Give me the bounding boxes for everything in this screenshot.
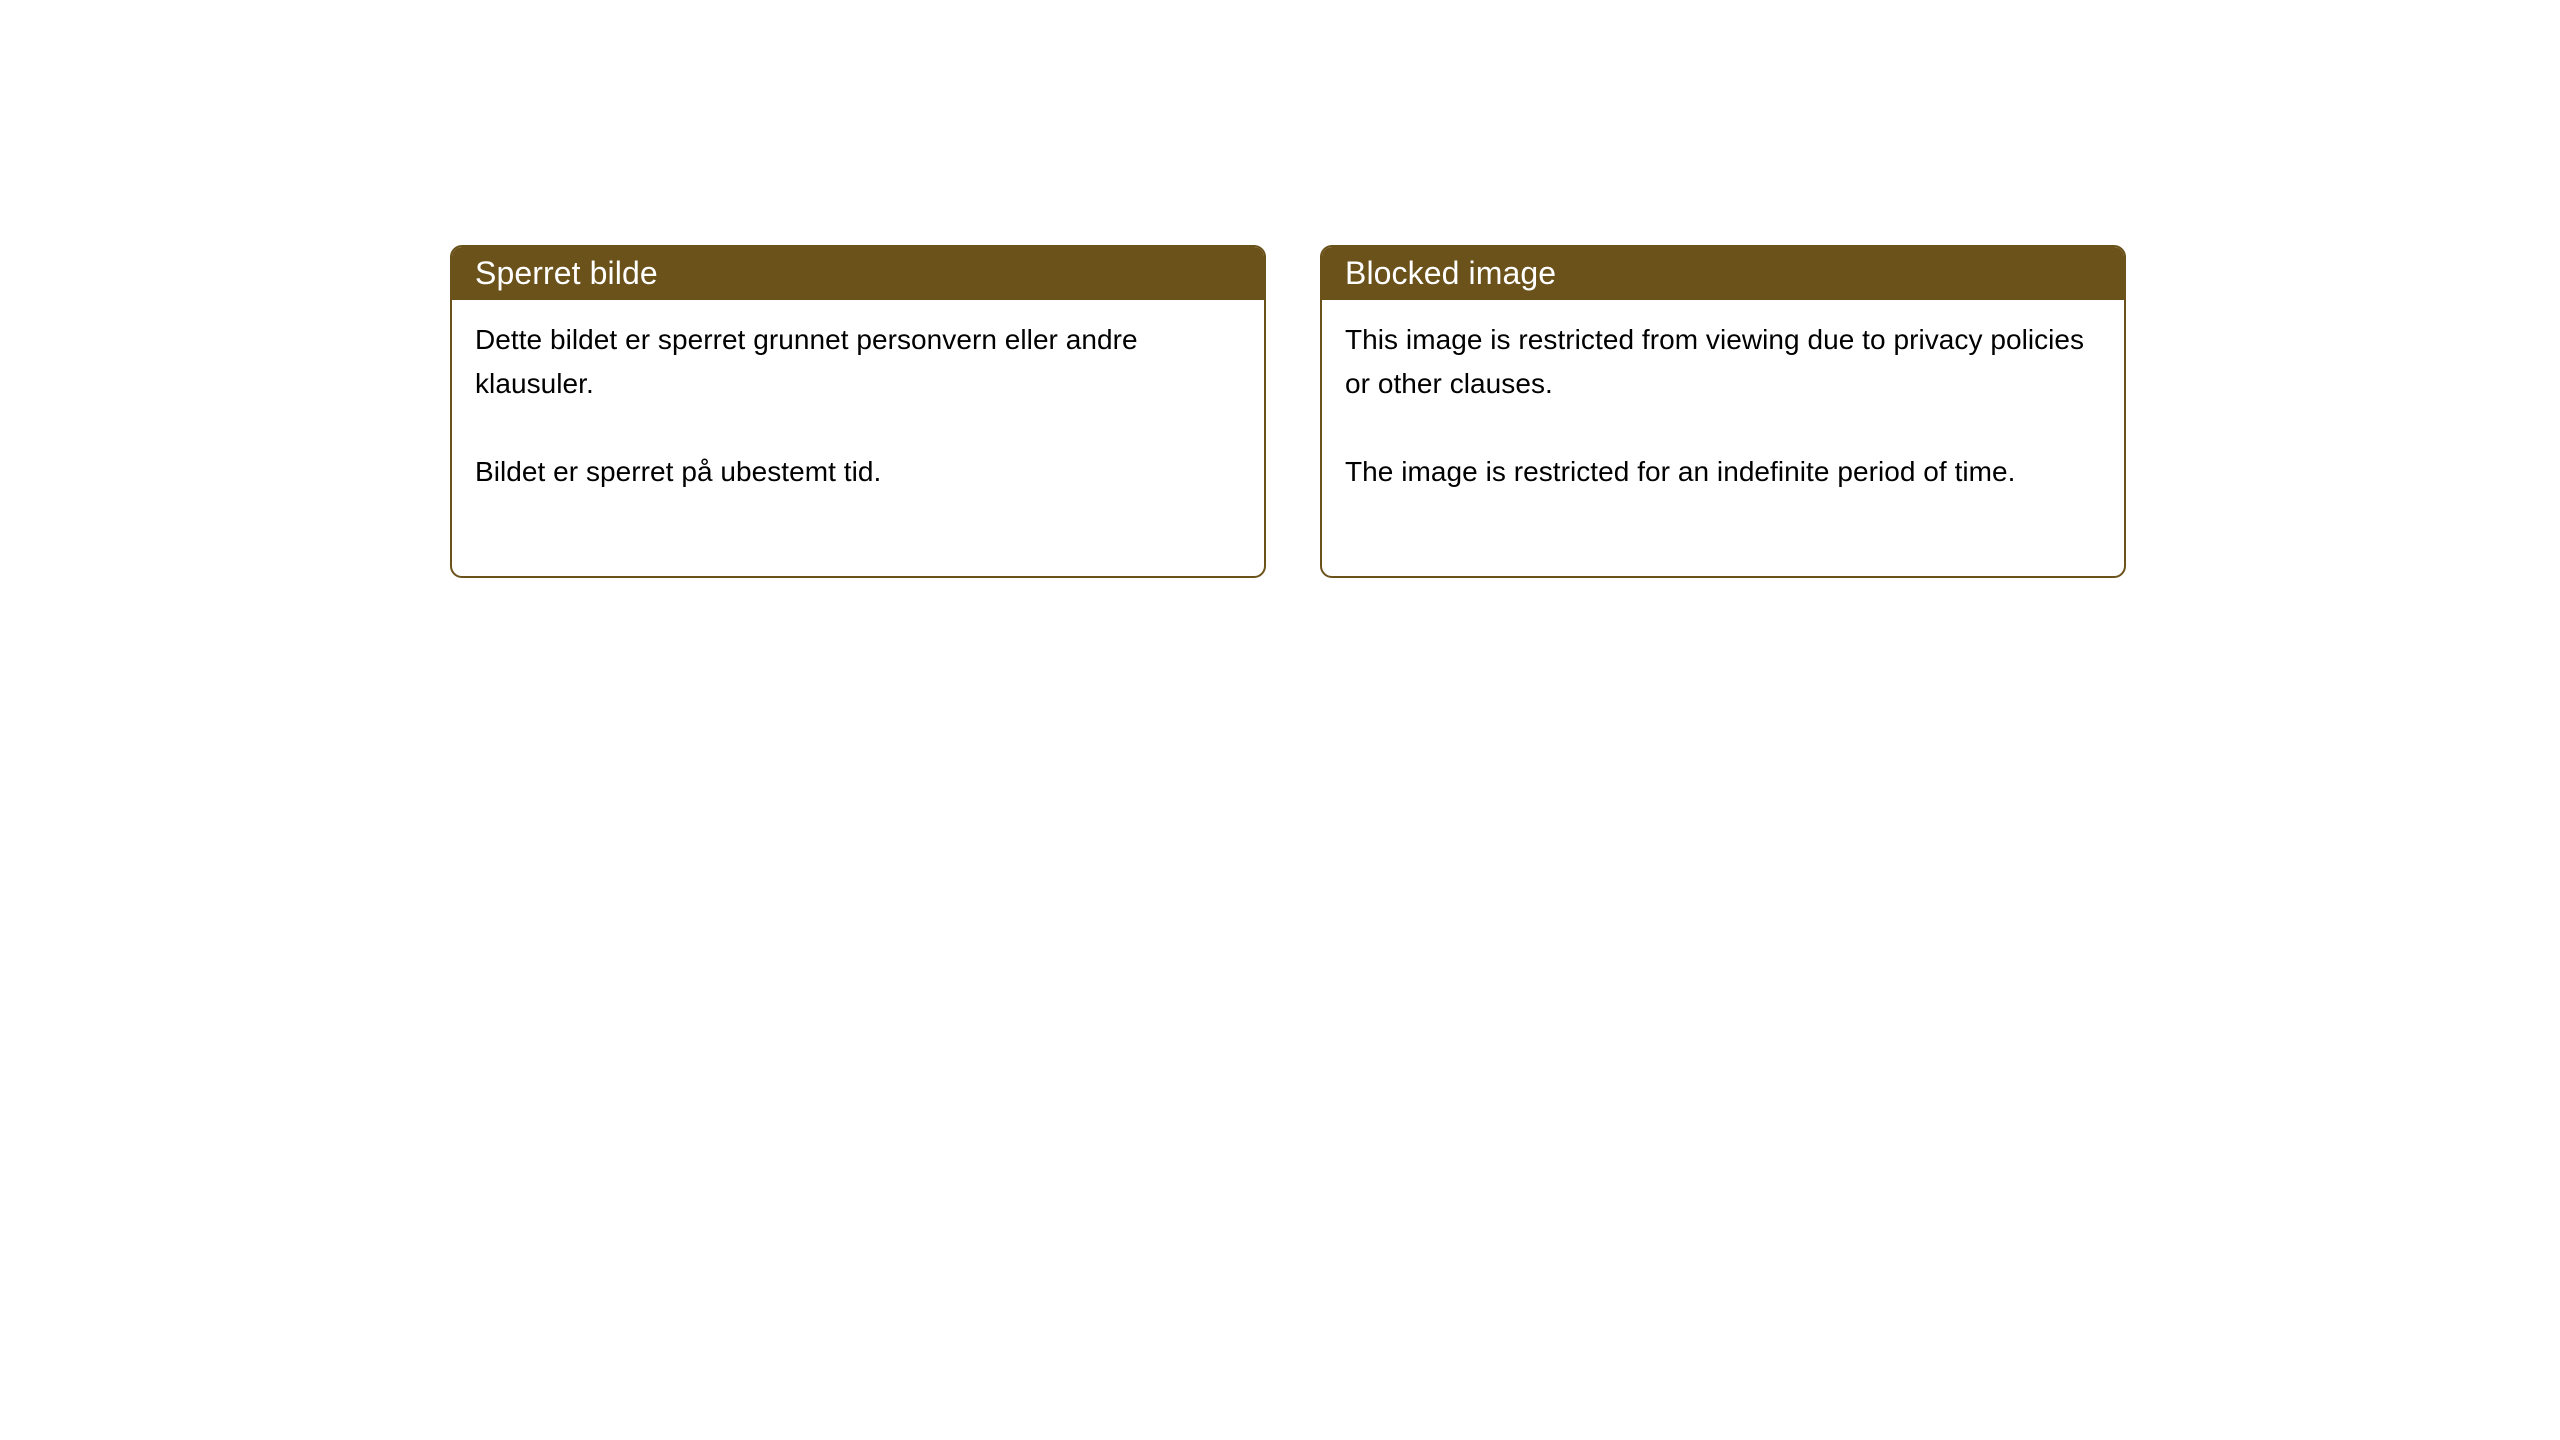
card-header-norwegian: Sperret bilde (450, 245, 1266, 300)
card-paragraph-duration-english: The image is restricted for an indefinit… (1345, 450, 2102, 494)
card-paragraph-duration-norwegian: Bildet er sperret på ubestemt tid. (475, 450, 1242, 494)
card-header-english: Blocked image (1320, 245, 2126, 300)
page-root: Sperret bilde Dette bildet er sperret gr… (0, 0, 2560, 1440)
card-title-norwegian: Sperret bilde (475, 256, 658, 290)
card-body-norwegian: Dette bildet er sperret grunnet personve… (452, 300, 1264, 494)
blocked-image-notice-card-english: Blocked image This image is restricted f… (1320, 245, 2126, 578)
card-paragraph-reason-english: This image is restricted from viewing du… (1345, 318, 2102, 406)
card-body-english: This image is restricted from viewing du… (1322, 300, 2124, 494)
blocked-image-notice-card-norwegian: Sperret bilde Dette bildet er sperret gr… (450, 245, 1266, 578)
card-paragraph-reason-norwegian: Dette bildet er sperret grunnet personve… (475, 318, 1242, 406)
card-title-english: Blocked image (1345, 256, 1556, 290)
